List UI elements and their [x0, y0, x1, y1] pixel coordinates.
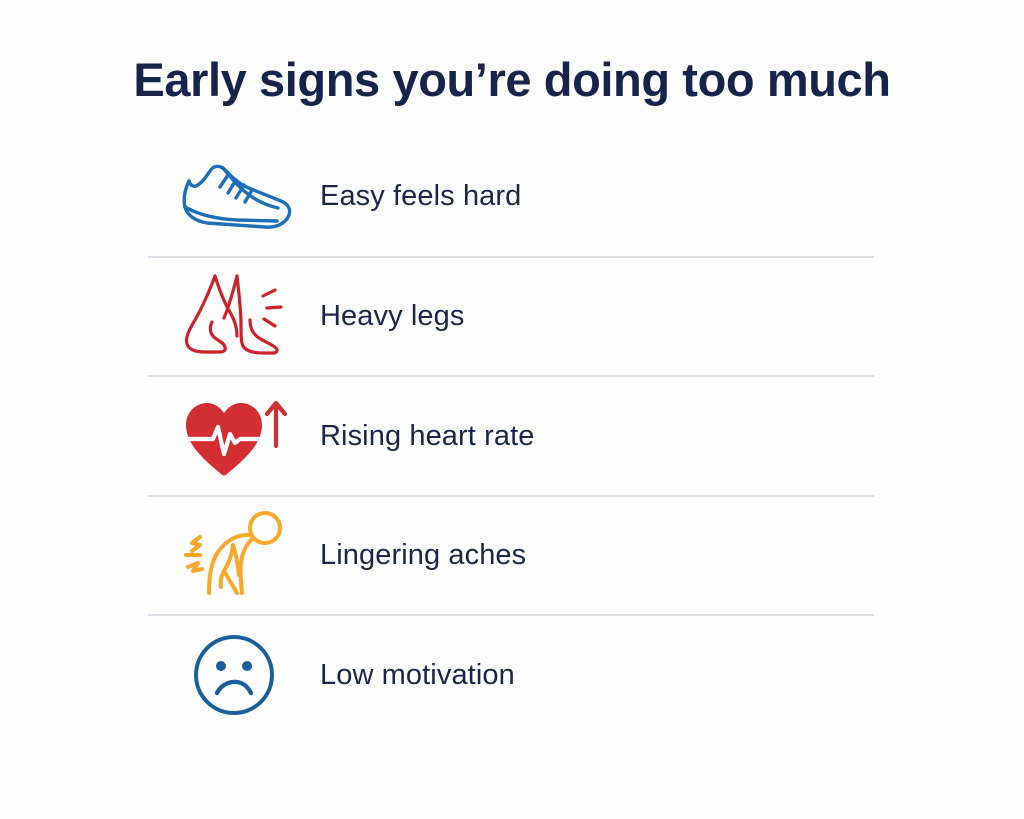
- infographic-card: Early signs you’re doing too much Easy f…: [0, 0, 1024, 819]
- back-pain-person-icon: [148, 507, 320, 603]
- list-item: Lingering aches: [148, 495, 874, 615]
- list-item: Heavy legs: [148, 256, 874, 376]
- signs-list: Easy feels hard Heavy leg: [148, 136, 874, 734]
- heart-rate-rising-icon: [148, 388, 320, 484]
- list-item: Rising heart rate: [148, 375, 874, 495]
- list-item: Easy feels hard: [148, 136, 874, 256]
- sad-face-icon: [148, 627, 320, 723]
- list-item: Low motivation: [148, 614, 874, 734]
- running-shoe-icon: [148, 148, 320, 244]
- list-item-label: Low motivation: [320, 657, 515, 693]
- list-item-label: Heavy legs: [320, 298, 464, 334]
- list-item-label: Easy feels hard: [320, 178, 521, 214]
- list-item-label: Lingering aches: [320, 537, 526, 573]
- aching-legs-icon: [148, 268, 320, 364]
- page-title: Early signs you’re doing too much: [0, 52, 1024, 108]
- list-item-label: Rising heart rate: [320, 418, 534, 454]
